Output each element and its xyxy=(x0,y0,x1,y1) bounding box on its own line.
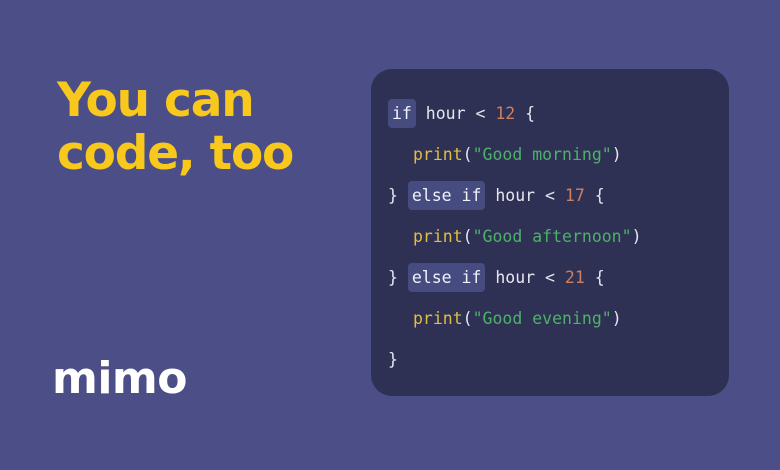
code-token-kw: else if xyxy=(408,263,486,292)
code-token-str: "Good afternoon" xyxy=(473,227,632,246)
mimo-logo: mimo xyxy=(52,355,187,403)
code-token-num: 12 xyxy=(495,104,515,123)
page-title: You can code, too xyxy=(57,74,357,180)
promo-poster: You can code, too mimo if hour < 12 {pri… xyxy=(0,0,780,470)
code-token-punct: ) xyxy=(612,145,622,164)
code-token-plain: { xyxy=(515,104,535,123)
code-token-plain: hour xyxy=(416,104,476,123)
code-token-plain: { xyxy=(585,268,605,287)
code-token-num: 17 xyxy=(565,186,585,205)
code-line: } else if hour < 17 { xyxy=(388,175,729,216)
code-token-plain: hour xyxy=(485,186,545,205)
code-token-punct: < xyxy=(475,104,495,123)
code-token-punct: ) xyxy=(632,227,642,246)
code-token-fn: print xyxy=(413,227,463,246)
code-line: } else if hour < 21 { xyxy=(388,257,729,298)
code-token-kw: if xyxy=(388,99,416,128)
code-token-kw: else if xyxy=(408,181,486,210)
code-token-str: "Good morning" xyxy=(473,145,612,164)
code-token-punct: < xyxy=(545,268,565,287)
code-token-str: "Good evening" xyxy=(473,309,612,328)
code-token-fn: print xyxy=(413,309,463,328)
code-token-plain: } xyxy=(388,350,398,369)
code-line: print("Good afternoon") xyxy=(388,216,729,257)
code-token-punct: ( xyxy=(463,309,473,328)
code-token-punct: ) xyxy=(612,309,622,328)
code-token-punct: ( xyxy=(463,145,473,164)
code-panel: if hour < 12 {print("Good morning")} els… xyxy=(371,69,729,396)
code-token-num: 21 xyxy=(565,268,585,287)
code-token-fn: print xyxy=(413,145,463,164)
code-token-plain: } xyxy=(388,268,408,287)
code-token-plain: { xyxy=(585,186,605,205)
code-token-plain: } xyxy=(388,186,408,205)
code-line: print("Good morning") xyxy=(388,134,729,175)
code-line: if hour < 12 { xyxy=(388,93,729,134)
code-line: print("Good evening") xyxy=(388,298,729,339)
code-token-punct: < xyxy=(545,186,565,205)
code-token-punct: ( xyxy=(463,227,473,246)
code-block: if hour < 12 {print("Good morning")} els… xyxy=(371,93,729,380)
code-token-plain: hour xyxy=(485,268,545,287)
code-line: } xyxy=(388,339,729,380)
left-column: You can code, too mimo xyxy=(0,0,371,470)
